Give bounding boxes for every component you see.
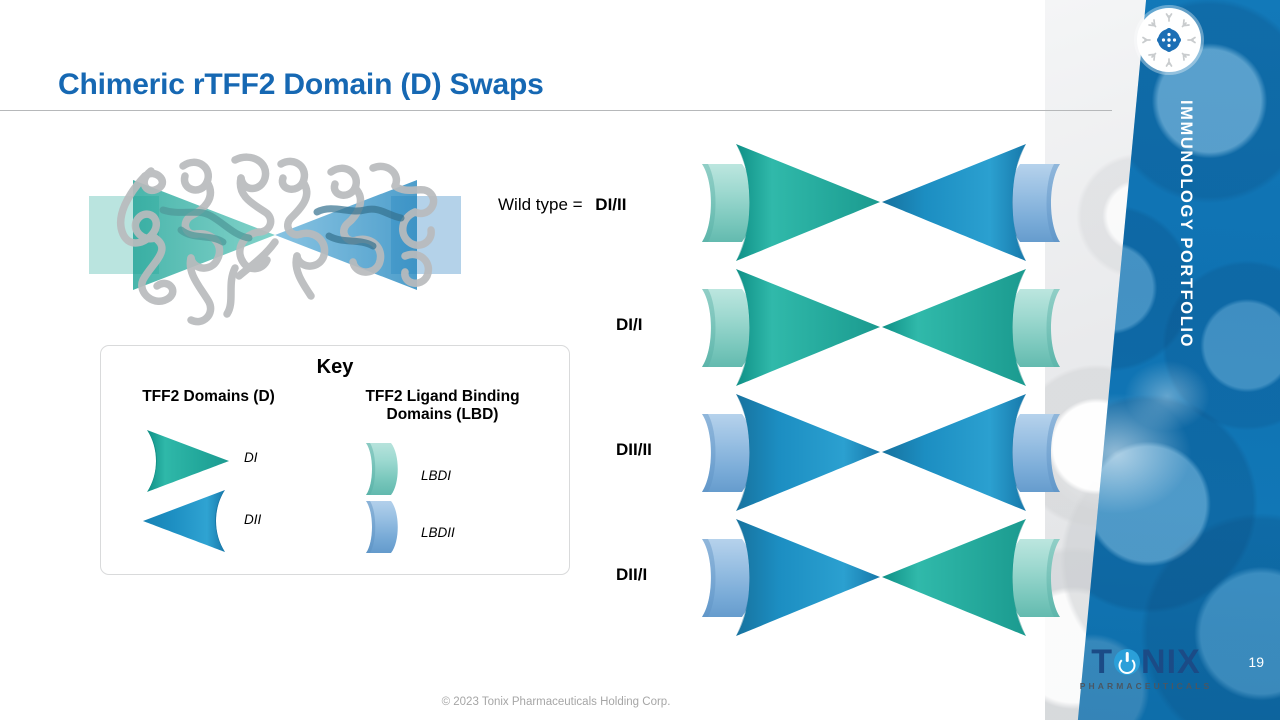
key-legend-box: Key TFF2 Domains (D) (100, 345, 570, 575)
tonix-logo: T NIX PHARMACEUTICALS (1076, 645, 1216, 691)
key-column-lbds: TFF2 Ligand Binding Domains (LBD) (316, 388, 569, 425)
logo-power-o-icon (1114, 649, 1140, 675)
key-heading-lbds-line1: TFF2 Ligand Binding (316, 388, 569, 406)
construct-diagram-list: Wild type = DI/II (600, 140, 1070, 660)
construct-row-di-i: DI/I (600, 265, 1070, 390)
slide-canvas: IMMUNOLOGY PORTFOLIO 19 T NIX PHARMACEUT… (0, 0, 1280, 720)
key-label-dii: DII (244, 512, 261, 527)
construct-label-di-i: DI/I (616, 315, 642, 335)
key-heading-lbds: TFF2 Ligand Binding Domains (LBD) (316, 388, 569, 425)
key-heading-domains: TFF2 Domains (D) (101, 388, 316, 406)
key-label-lbdii: LBDII (421, 525, 455, 540)
construct-label-dii-i: DII/I (616, 565, 647, 585)
logo-tagline: PHARMACEUTICALS (1076, 681, 1216, 691)
construct-graphic-dii-ii (700, 390, 1062, 515)
construct-label-dii-ii: DII/II (616, 440, 652, 460)
construct-graphic-dii-i (700, 515, 1062, 640)
key-heading-lbds-line2: Domains (LBD) (316, 406, 569, 424)
key-shape-lbdi (361, 440, 405, 503)
key-shape-dii (141, 486, 231, 561)
construct-row-di-ii: Wild type = DI/II (600, 140, 1070, 265)
key-columns: TFF2 Domains (D) (101, 388, 569, 425)
key-shape-lbdii (361, 498, 405, 561)
construct-row-dii-ii: DII/II (600, 390, 1070, 515)
right-banner: IMMUNOLOGY PORTFOLIO 19 (1045, 0, 1280, 720)
key-label-di: DI (244, 450, 258, 465)
banner-vertical-label: IMMUNOLOGY PORTFOLIO (1176, 100, 1195, 400)
tonix-wordmark: T NIX (1076, 645, 1216, 679)
wild-type-prefix: Wild type = (498, 195, 587, 214)
virus-antibody-icon (1137, 8, 1201, 72)
rtff2-protein-ribbon-figure (85, 138, 465, 333)
key-title: Key (101, 356, 569, 379)
wild-type-label: DI/II (595, 195, 626, 214)
page-number: 19 (1248, 654, 1264, 670)
page-title: Chimeric rTFF2 Domain (D) Swaps (58, 68, 544, 102)
copyright-footer: © 2023 Tonix Pharmaceuticals Holding Cor… (0, 696, 1112, 708)
construct-graphic-di-ii (700, 140, 1062, 265)
key-label-lbdi: LBDI (421, 468, 451, 483)
wild-type-annotation: Wild type = DI/II (498, 195, 626, 215)
logo-letters-nix: NIX (1141, 645, 1201, 679)
title-divider (0, 110, 1112, 111)
construct-graphic-di-i (700, 265, 1062, 390)
logo-letter-t: T (1091, 645, 1113, 679)
key-column-domains: TFF2 Domains (D) (101, 388, 316, 425)
construct-row-dii-i: DII/I (600, 515, 1070, 640)
